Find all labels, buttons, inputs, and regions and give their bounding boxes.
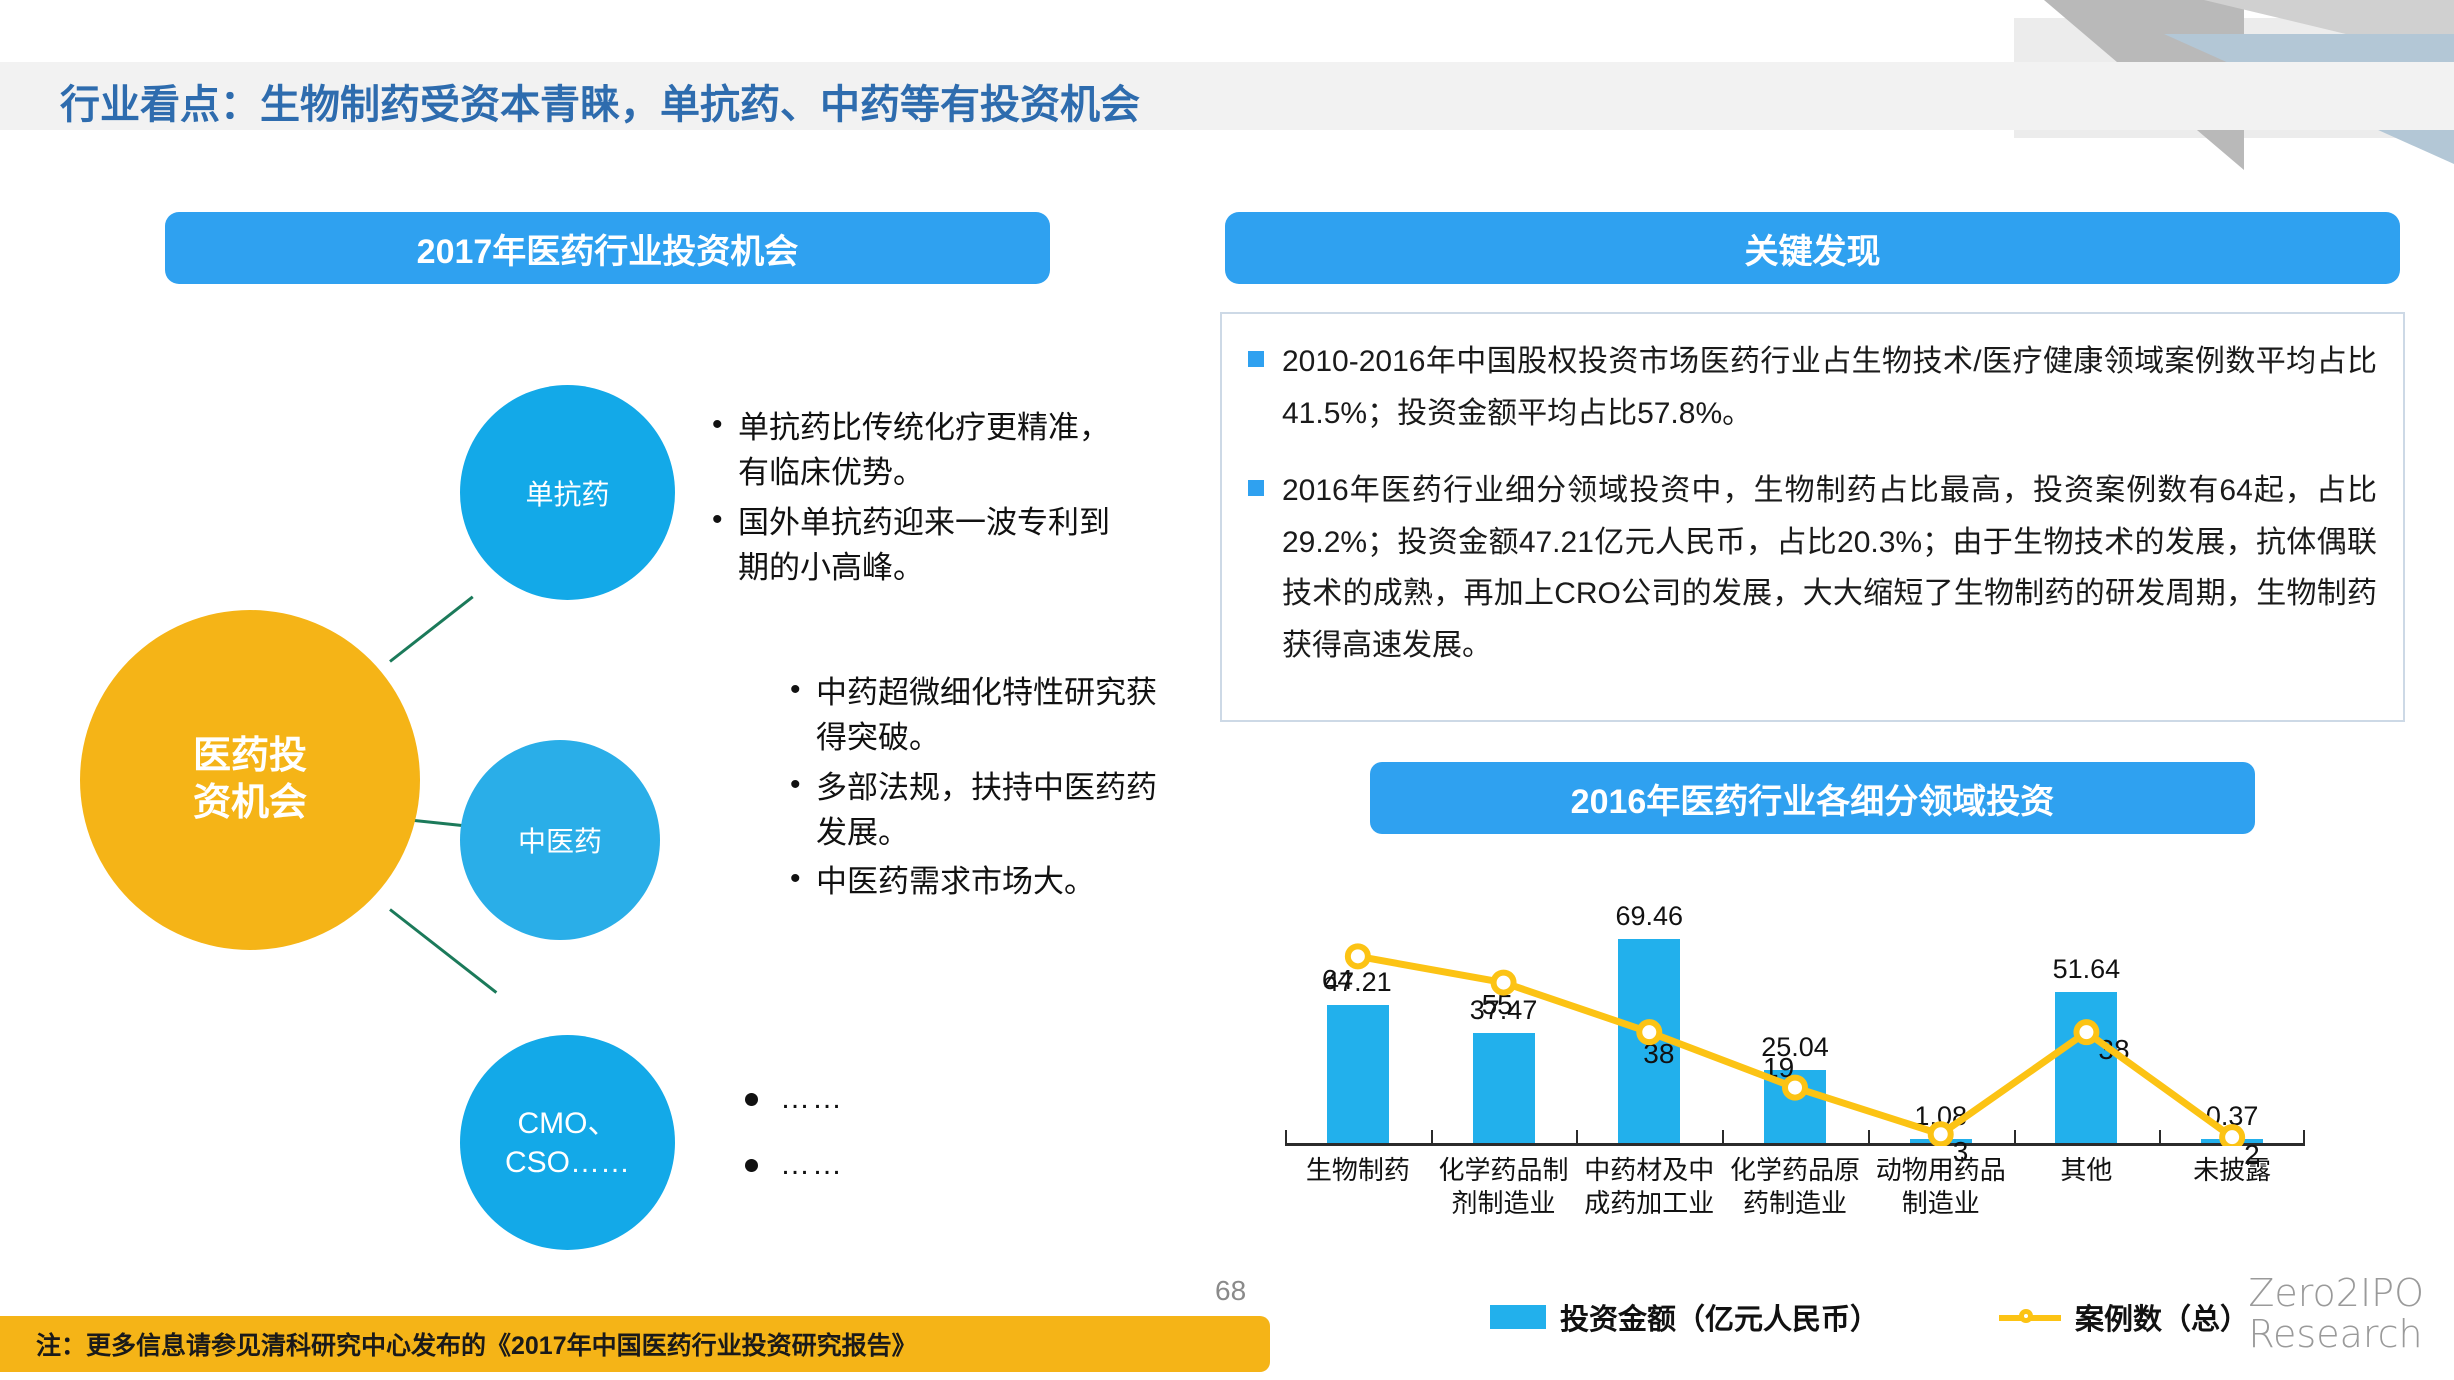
line-data-point [1639, 1022, 1659, 1042]
legend-label: 案例数（总） [2075, 1296, 2249, 1338]
node-label: CMO、 CSO…… [505, 1104, 630, 1182]
ellipsis-text: …… [780, 1148, 844, 1182]
square-bullet-icon [1248, 351, 1264, 367]
x-axis-label: 动物用药品 制造业 [1861, 1154, 2021, 1219]
key-findings-title: 关键发现 [1225, 212, 2400, 284]
node-label: 中医药 [518, 820, 602, 860]
line-data-point [1785, 1078, 1805, 1098]
note-item: 多部法规，扶持中医药药发展。 [790, 765, 1160, 856]
dot-marker-icon [745, 1159, 758, 1172]
finding-text: 2010-2016年中国股权投资市场医药行业占生物技术/医疗健康领域案例数平均占… [1282, 336, 2377, 439]
node-cmo-cso: CMO、 CSO…… [460, 1035, 675, 1250]
x-axis-label: 化学药品原 药制造业 [1715, 1154, 1875, 1219]
x-axis-label: 其他 [2006, 1154, 2166, 1187]
page-title: 行业看点：生物制药受资本青睐，单抗药、中药等有投资机会 [60, 72, 1140, 130]
finding-text: 2016年医药行业细分领域投资中，生物制药占比最高，投资案例数有64起，占比29… [1282, 465, 2377, 671]
x-axis-label: 未披露 [2152, 1154, 2312, 1187]
connector-line [389, 596, 474, 663]
ellipsis-text: …… [780, 1082, 844, 1116]
line-data-point [2076, 1022, 2096, 1042]
line-data-point [1931, 1124, 1951, 1144]
legend-swatch-icon [1490, 1305, 1546, 1329]
node-center: 医药投 资机会 [80, 610, 420, 950]
ellipsis-row: …… [745, 1148, 844, 1182]
node-tcm: 中医药 [460, 740, 660, 940]
x-axis-label: 生物制药 [1278, 1154, 1438, 1187]
line-series-svg [1285, 866, 2305, 1146]
connector-line [389, 908, 497, 993]
note-item: 国外单抗药迎来一波专利到期的小高峰。 [712, 500, 1112, 591]
ellipsis-row: …… [745, 1082, 844, 1116]
logo-line-1: Zero2IPO [2248, 1273, 2424, 1313]
note-item: 中医药需求市场大。 [790, 859, 1160, 904]
legend-item-amount[interactable]: 投资金额（亿元人民币） [1490, 1296, 1879, 1338]
finding-item: 2010-2016年中国股权投资市场医药行业占生物技术/医疗健康领域案例数平均占… [1248, 336, 2377, 439]
finding-item: 2016年医药行业细分领域投资中，生物制药占比最高，投资案例数有64起，占比29… [1248, 465, 2377, 671]
slide-canvas: 2017 行业看点：生物制药受资本青睐，单抗药、中药等有投资机会 2017年医药… [0, 0, 2454, 1380]
chart-plot-area: 47.216437.475569.463825.04191.08351.6438… [1285, 866, 2305, 1146]
chart-title: 2016年医药行业各细分领域投资 [1370, 762, 2255, 834]
chart-legend: 投资金额（亿元人民币） 案例数（总） [1490, 1296, 2249, 1338]
line-data-point [2222, 1127, 2242, 1146]
key-findings-box: 2010-2016年中国股权投资市场医药行业占生物技术/医疗健康领域案例数平均占… [1220, 312, 2405, 722]
dot-marker-icon [745, 1093, 758, 1106]
notes-group-tcm: 中药超微细化特性研究获得突破。 多部法规，扶持中医药药发展。 中医药需求市场大。 [790, 670, 1160, 908]
logo-line-2: Research [2248, 1314, 2424, 1354]
node-label: 单抗药 [525, 473, 609, 513]
legend-label: 投资金额（亿元人民币） [1560, 1296, 1879, 1338]
node-center-label: 医药投 资机会 [193, 733, 307, 828]
legend-item-cases[interactable]: 案例数（总） [1999, 1296, 2249, 1338]
brand-logo: Zero2IPO Research [2248, 1273, 2424, 1354]
note-item: 单抗药比传统化疗更精准，有临床优势。 [712, 405, 1112, 496]
legend-line-icon [1999, 1306, 2061, 1328]
note-item: 中药超微细化特性研究获得突破。 [790, 670, 1160, 761]
line-data-point [1494, 973, 1514, 993]
x-axis-labels: 生物制药化学药品制 剂制造业中药材及中 成药加工业化学药品原 药制造业动物用药品… [1285, 1154, 2305, 1244]
line-series-path [1358, 956, 2232, 1137]
line-data-point [1348, 946, 1368, 966]
left-panel-title: 2017年医药行业投资机会 [165, 212, 1050, 284]
subsector-investment-chart: 47.216437.475569.463825.04191.08351.6438… [1285, 866, 2305, 1206]
notes-group-monoclonal: 单抗药比传统化疗更精准，有临床优势。 国外单抗药迎来一波专利到期的小高峰。 [712, 405, 1112, 594]
square-bullet-icon [1248, 480, 1264, 496]
x-axis-label: 中药材及中 成药加工业 [1569, 1154, 1729, 1219]
footer-note: 注：更多信息请参见清科研究中心发布的《2017年中国医药行业投资研究报告》 [0, 1316, 1270, 1372]
page-number: 68 [1215, 1275, 1246, 1307]
x-axis-label: 化学药品制 剂制造业 [1424, 1154, 1584, 1219]
node-monoclonal: 单抗药 [460, 385, 675, 600]
